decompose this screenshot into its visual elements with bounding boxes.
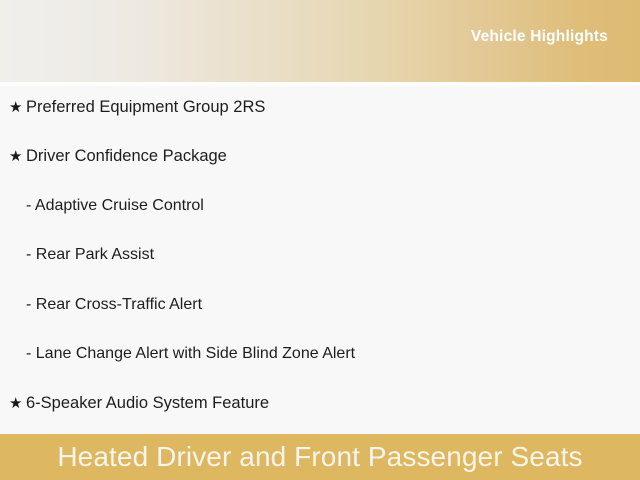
star-icon: ★	[9, 100, 26, 115]
list-item-label: - Lane Change Alert with Side Blind Zone…	[26, 345, 355, 363]
list-item: ★ Preferred Equipment Group 2RS	[0, 93, 640, 121]
list-item-label: Preferred Equipment Group 2RS	[26, 98, 265, 116]
list-item: - Adaptive Cruise Control	[0, 192, 640, 220]
page-title: Vehicle Highlights	[471, 29, 608, 45]
footer-banner: Heated Driver and Front Passenger Seats	[0, 434, 640, 480]
footer-headline: Heated Driver and Front Passenger Seats	[57, 443, 582, 471]
highlights-list: ★ Preferred Equipment Group 2RS ★ Driver…	[0, 86, 640, 434]
star-icon: ★	[9, 149, 26, 164]
list-item-label: - Rear Cross-Traffic Alert	[26, 296, 202, 314]
star-icon: ★	[9, 396, 26, 411]
list-item: - Rear Park Assist	[0, 241, 640, 269]
list-item-label: 6-Speaker Audio System Feature	[26, 394, 269, 412]
header-banner: Vehicle Highlights	[0, 0, 640, 82]
vehicle-highlights-slide: Vehicle Highlights ★ Preferred Equipment…	[0, 0, 640, 480]
list-item-label: - Rear Park Assist	[26, 246, 154, 264]
list-item: - Rear Cross-Traffic Alert	[0, 291, 640, 319]
list-item: ★ 6-Speaker Audio System Feature	[0, 389, 640, 417]
list-item-label: Driver Confidence Package	[26, 147, 227, 165]
list-item: - Lane Change Alert with Side Blind Zone…	[0, 340, 640, 368]
list-item-label: - Adaptive Cruise Control	[26, 197, 204, 215]
list-item: ★ Driver Confidence Package	[0, 142, 640, 170]
